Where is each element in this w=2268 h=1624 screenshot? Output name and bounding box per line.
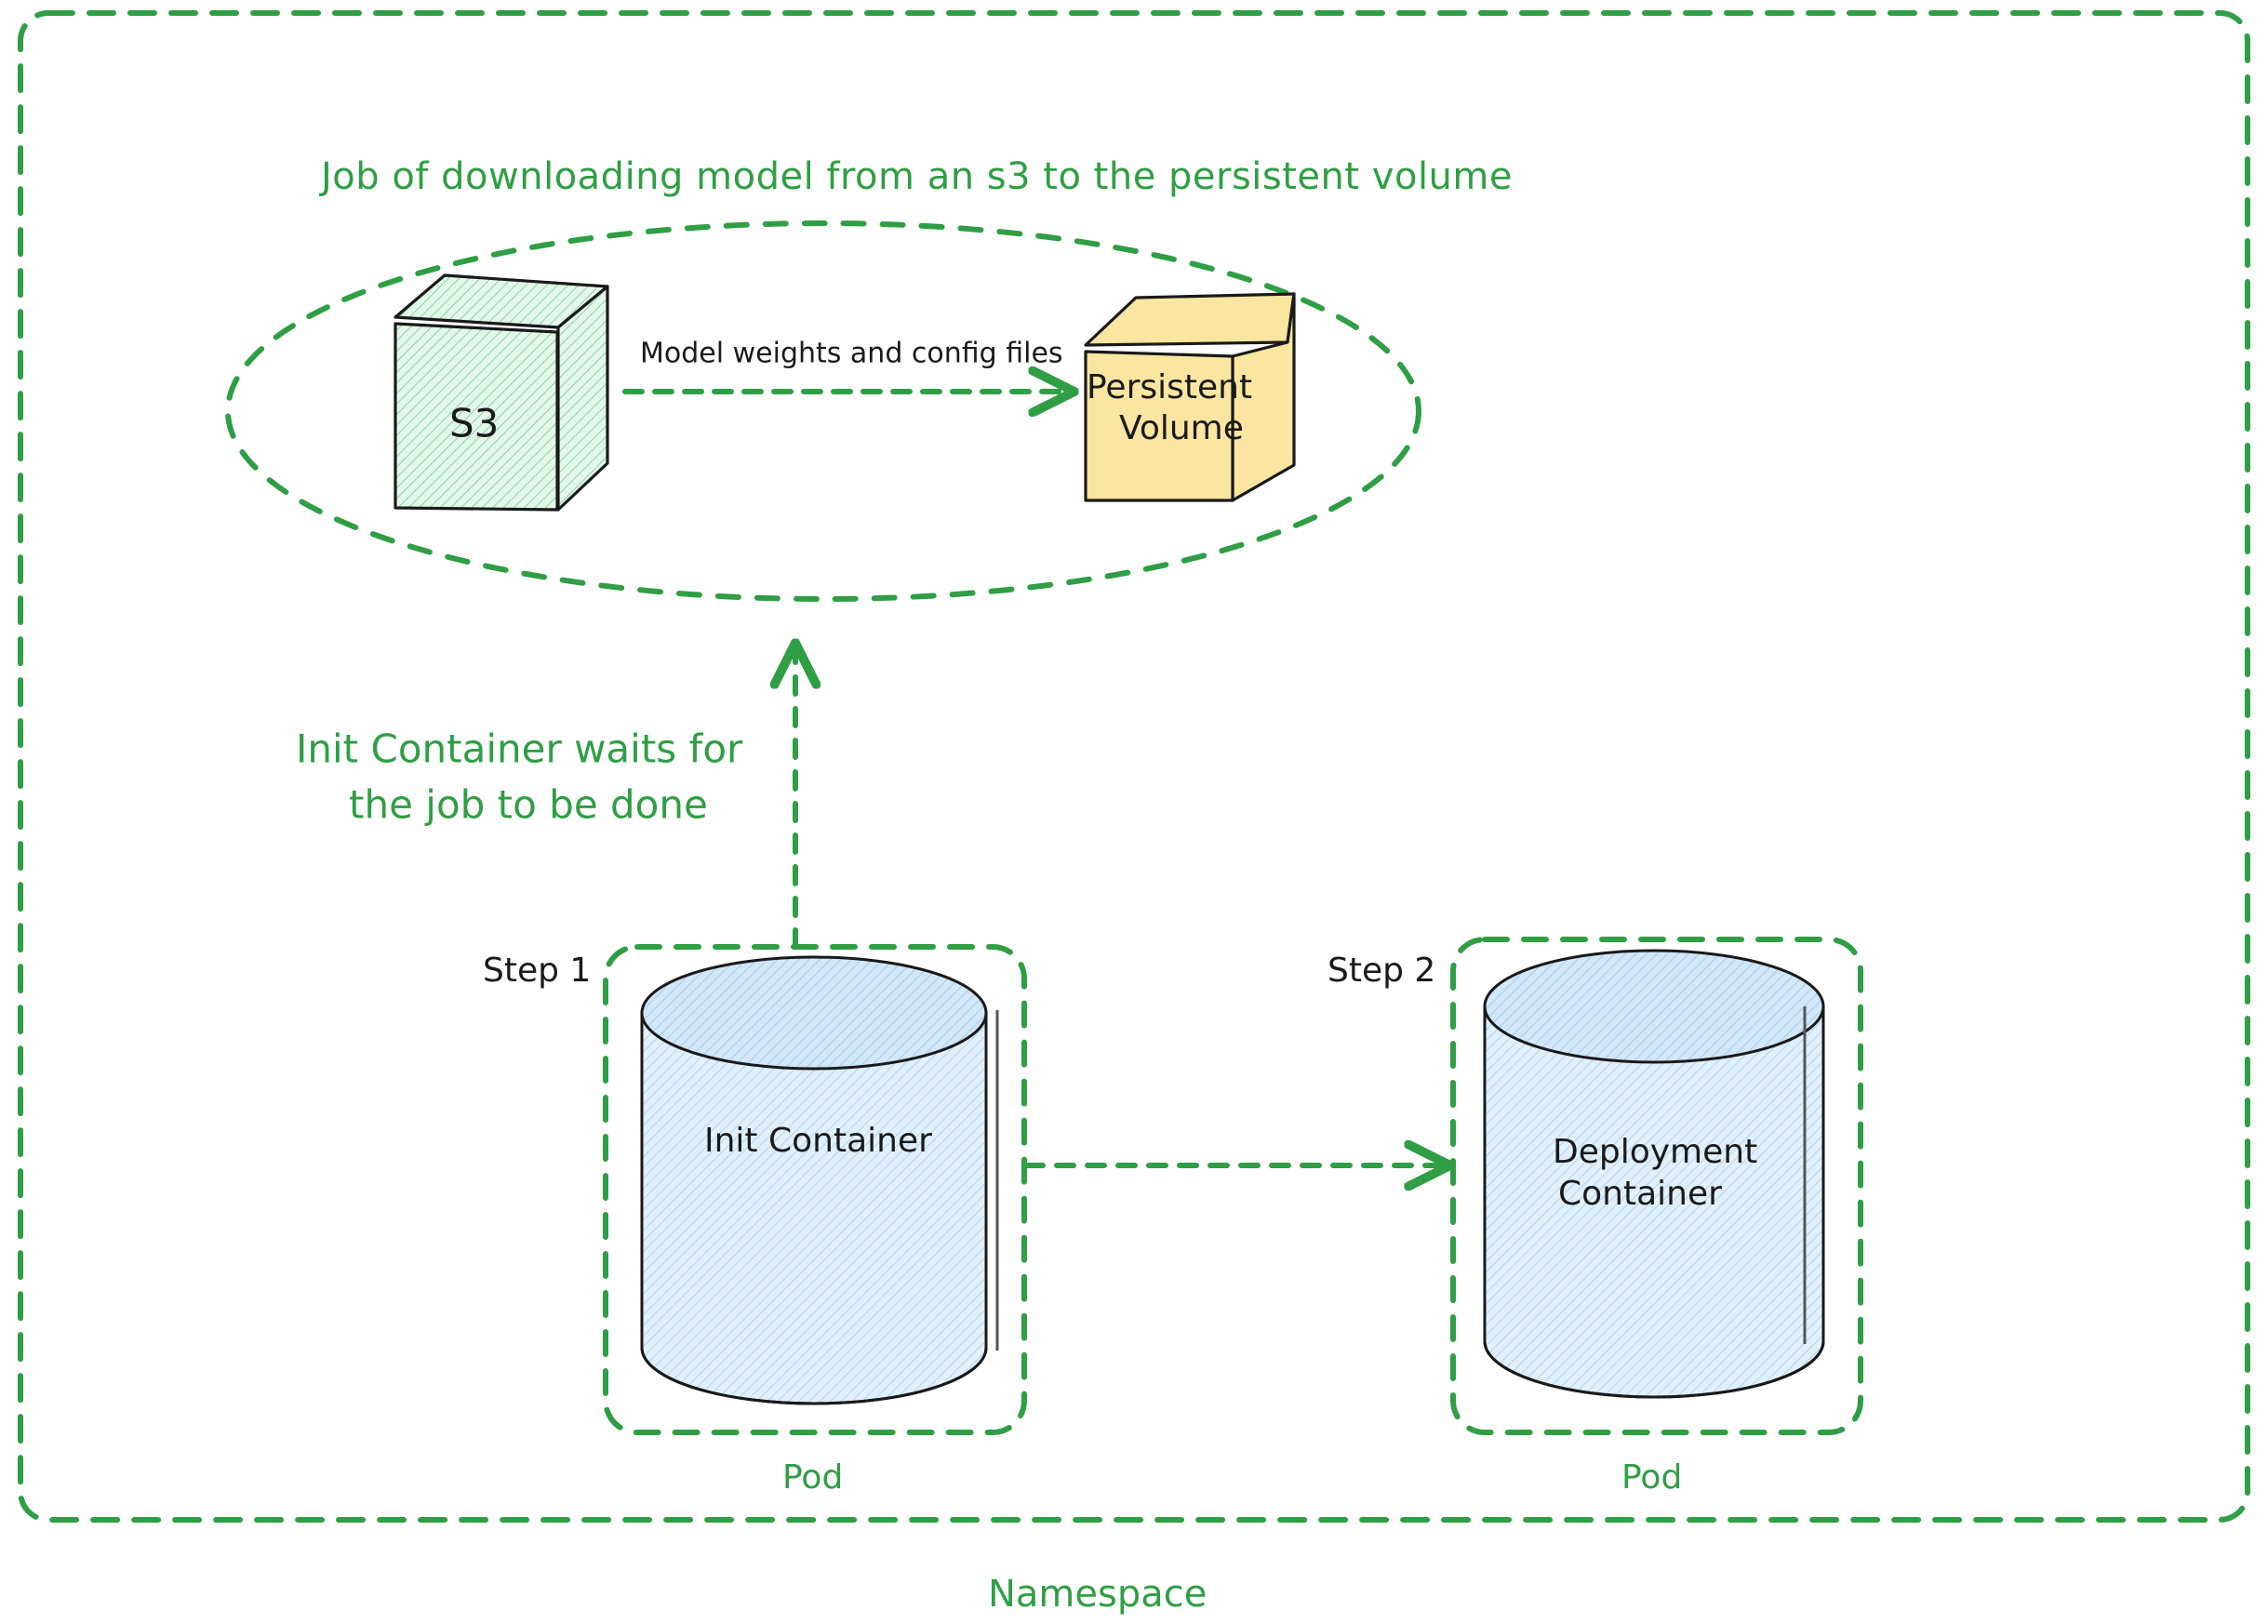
s3-cube: S3 [395,275,607,510]
step-2-label: Step 2 [1327,952,1435,990]
pod-2-label: Pod [1621,1458,1682,1497]
wait-note-line1: Init Container waits for [296,726,743,772]
deployment-container-cylinder: Deployment Container [1485,951,1823,1397]
pod-init-container[interactable]: Step 1 Init Container Pod [483,947,1024,1497]
persistent-volume-label-line2: Volume [1119,409,1244,447]
init-container-label: Init Container [704,1122,932,1160]
diagram-canvas: Job of downloading model from an s3 to t… [0,0,2268,1624]
s3-cube-label: S3 [449,401,499,446]
namespace-label: Namespace [988,1573,1207,1616]
persistent-volume-label-line1: Persistent [1087,368,1252,406]
init-container-cylinder: Init Container [642,957,997,1404]
architecture-diagram: Job of downloading model from an s3 to t… [0,0,2268,1624]
pod-1-label: Pod [782,1458,843,1497]
deployment-container-label-line1: Deployment [1553,1133,1757,1171]
persistent-volume-cube: Persistent Volume [1086,294,1294,500]
wait-note-line2: the job to be done [349,782,708,828]
deployment-container-label-line2: Container [1558,1175,1722,1213]
job-group-title: Job of downloading model from an s3 to t… [318,155,1513,198]
pod-deployment-container[interactable]: Step 2 Deployment Container Pod [1327,939,1861,1497]
model-transfer-arrow-label: Model weights and config files [640,338,1063,370]
step-1-label: Step 1 [483,952,591,990]
